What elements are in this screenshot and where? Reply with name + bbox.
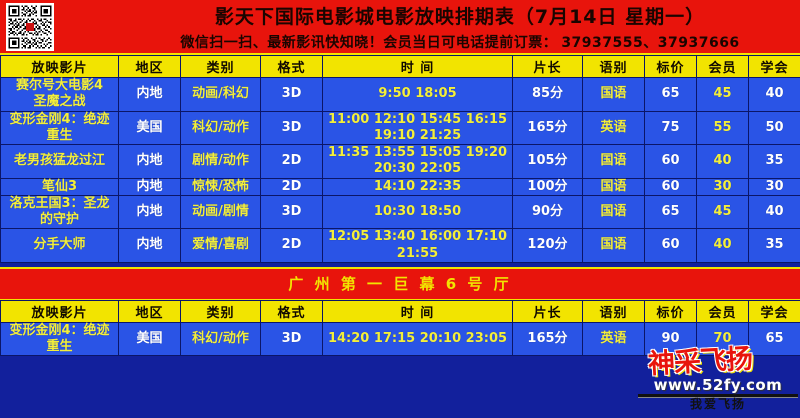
col-header-length: 片长: [513, 300, 583, 322]
col-header-length: 片长: [513, 56, 583, 78]
cell-genre: 动画/科幻: [181, 78, 261, 112]
table-row[interactable]: 变形金刚4：绝迹重生 美国 科幻/动作 3D 11:00 12:10 15:45…: [1, 111, 800, 145]
cell-price: 60: [645, 145, 697, 179]
cell-format: 2D: [261, 178, 323, 195]
cell-association: 65: [749, 322, 800, 356]
col-header-film: 放映影片: [1, 300, 119, 322]
hall-banner: 广 州 第 一 巨 幕 6 号 厅: [0, 267, 800, 300]
table-row[interactable]: 笔仙3 内地 惊悚/恐怖 2D 14:10 22:35 100分 国语 60 3…: [1, 178, 800, 195]
cell-association: 50: [749, 111, 800, 145]
schedule-table-head: 放映影片 地区 类别 格式 时 间 片长 语别 标价 会员 学会 学生: [1, 56, 800, 78]
cell-genre: 剧情/动作: [181, 145, 261, 179]
hall-table-head: 放映影片 地区 类别 格式 时 间 片长 语别 标价 会员 学会 学生: [1, 300, 800, 322]
cell-member: 70: [697, 322, 749, 356]
cell-time: 14:20 17:15 20:10 23:05: [323, 322, 513, 356]
cell-genre: 爱情/喜剧: [181, 229, 261, 263]
cell-time: 12:05 13:40 16:00 17:1021:55: [323, 229, 513, 263]
cell-price: 60: [645, 178, 697, 195]
table-header-row: 放映影片 地区 类别 格式 时 间 片长 语别 标价 会员 学会 学生: [1, 300, 800, 322]
cell-region: 内地: [119, 229, 181, 263]
cell-region: 内地: [119, 178, 181, 195]
qr-code-icon: [6, 3, 54, 51]
schedule-table-body: 赛尔号大电影4圣魔之战 内地 动画/科幻 3D 9:50 18:05 85分 国…: [1, 78, 800, 263]
cell-association: 40: [749, 195, 800, 229]
cell-member: 55: [697, 111, 749, 145]
banner-subtitle: 微信扫一扫、最新影讯快知晓！会员当日可电话提前订票： 37937555、3793…: [130, 30, 790, 54]
cell-language: 英语: [583, 322, 645, 356]
table-row[interactable]: 洛克王国3：圣龙的守护 内地 动画/剧情 3D 10:30 18:50 90分 …: [1, 195, 800, 229]
cell-language: 国语: [583, 178, 645, 195]
banner-phones: 37937555、37937666: [561, 32, 739, 52]
cell-language: 国语: [583, 78, 645, 112]
table-header-row: 放映影片 地区 类别 格式 时 间 片长 语别 标价 会员 学会 学生: [1, 56, 800, 78]
col-header-association: 学会: [749, 300, 800, 322]
cell-member: 45: [697, 195, 749, 229]
cell-association: 35: [749, 229, 800, 263]
cell-time: 11:00 12:10 15:45 16:1519:10 21:25: [323, 111, 513, 145]
cell-film: 变形金刚4：绝迹重生: [1, 111, 119, 145]
cell-format: 2D: [261, 229, 323, 263]
cell-region: 美国: [119, 111, 181, 145]
col-header-language: 语别: [583, 300, 645, 322]
col-header-genre: 类别: [181, 56, 261, 78]
cell-genre: 科幻/动作: [181, 111, 261, 145]
cell-length: 105分: [513, 145, 583, 179]
cell-association: 35: [749, 145, 800, 179]
cell-format: 3D: [261, 111, 323, 145]
col-header-time: 时 间: [323, 300, 513, 322]
cell-language: 国语: [583, 145, 645, 179]
cell-format: 3D: [261, 78, 323, 112]
col-header-format: 格式: [261, 56, 323, 78]
cell-film: 笔仙3: [1, 178, 119, 195]
top-banner: 影天下国际电影城电影放映排期表（7月14日 星期一） 微信扫一扫、最新影讯快知晓…: [0, 0, 800, 55]
banner-title: 影天下国际电影城电影放映排期表（7月14日 星期一）: [130, 2, 790, 28]
cell-region: 内地: [119, 145, 181, 179]
col-header-region: 地区: [119, 56, 181, 78]
cell-price: 65: [645, 195, 697, 229]
col-header-language: 语别: [583, 56, 645, 78]
cell-film: 赛尔号大电影4圣魔之战: [1, 78, 119, 112]
cell-member: 45: [697, 78, 749, 112]
col-header-region: 地区: [119, 300, 181, 322]
cell-time: 11:35 13:55 15:05 19:2020:30 22:05: [323, 145, 513, 179]
cell-format: 2D: [261, 145, 323, 179]
table-row[interactable]: 老男孩猛龙过江 内地 剧情/动作 2D 11:35 13:55 15:05 19…: [1, 145, 800, 179]
cell-price: 65: [645, 78, 697, 112]
col-header-format: 格式: [261, 300, 323, 322]
cell-length: 165分: [513, 111, 583, 145]
watermark-url: www.52fy.com: [638, 378, 798, 393]
cell-member: 30: [697, 178, 749, 195]
hall-schedule-table: 放映影片 地区 类别 格式 时 间 片长 语别 标价 会员 学会 学生 变形金刚…: [0, 300, 800, 357]
cell-language: 国语: [583, 229, 645, 263]
cell-price: 90: [645, 322, 697, 356]
cell-film: 变形金刚4：绝迹重生: [1, 322, 119, 356]
col-header-member: 会员: [697, 300, 749, 322]
cell-length: 85分: [513, 78, 583, 112]
cell-association: 40: [749, 78, 800, 112]
col-header-member: 会员: [697, 56, 749, 78]
cell-film: 分手大师: [1, 229, 119, 263]
cell-time: 14:10 22:35: [323, 178, 513, 195]
cell-language: 英语: [583, 111, 645, 145]
col-header-price: 标价: [645, 300, 697, 322]
cell-price: 60: [645, 229, 697, 263]
cell-region: 内地: [119, 195, 181, 229]
cell-length: 90分: [513, 195, 583, 229]
col-header-time: 时 间: [323, 56, 513, 78]
cell-region: 内地: [119, 78, 181, 112]
table-row[interactable]: 分手大师 内地 爱情/喜剧 2D 12:05 13:40 16:00 17:10…: [1, 229, 800, 263]
table-row[interactable]: 变形金刚4：绝迹重生 美国 科幻/动作 3D 14:20 17:15 20:10…: [1, 322, 800, 356]
cell-length: 100分: [513, 178, 583, 195]
watermark-divider: [638, 394, 798, 397]
cell-genre: 科幻/动作: [181, 322, 261, 356]
cell-length: 165分: [513, 322, 583, 356]
cell-price: 75: [645, 111, 697, 145]
cell-time: 10:30 18:50: [323, 195, 513, 229]
watermark-slogan: 我爱飞扬: [638, 397, 798, 411]
watermark-url-block: www.52fy.com 我爱飞扬: [638, 378, 798, 412]
col-header-association: 学会: [749, 56, 800, 78]
cell-film: 老男孩猛龙过江: [1, 145, 119, 179]
cell-language: 国语: [583, 195, 645, 229]
cell-format: 3D: [261, 195, 323, 229]
cell-member: 40: [697, 229, 749, 263]
cell-member: 40: [697, 145, 749, 179]
schedule-table: 放映影片 地区 类别 格式 时 间 片长 语别 标价 会员 学会 学生 赛尔号大…: [0, 55, 800, 263]
cell-film: 洛克王国3：圣龙的守护: [1, 195, 119, 229]
cell-length: 120分: [513, 229, 583, 263]
cell-time: 9:50 18:05: [323, 78, 513, 112]
cell-format: 3D: [261, 322, 323, 356]
schedule-page: 影天下国际电影城电影放映排期表（7月14日 星期一） 微信扫一扫、最新影讯快知晓…: [0, 0, 800, 418]
cell-genre: 惊悚/恐怖: [181, 178, 261, 195]
cell-region: 美国: [119, 322, 181, 356]
hall-table-body: 变形金刚4：绝迹重生 美国 科幻/动作 3D 14:20 17:15 20:10…: [1, 322, 800, 356]
col-header-film: 放映影片: [1, 56, 119, 78]
cell-genre: 动画/剧情: [181, 195, 261, 229]
banner-subtitle-text: 微信扫一扫、最新影讯快知晓！会员当日可电话提前订票：: [180, 32, 557, 52]
table-row[interactable]: 赛尔号大电影4圣魔之战 内地 动画/科幻 3D 9:50 18:05 85分 国…: [1, 78, 800, 112]
col-header-price: 标价: [645, 56, 697, 78]
cell-association: 30: [749, 178, 800, 195]
col-header-genre: 类别: [181, 300, 261, 322]
